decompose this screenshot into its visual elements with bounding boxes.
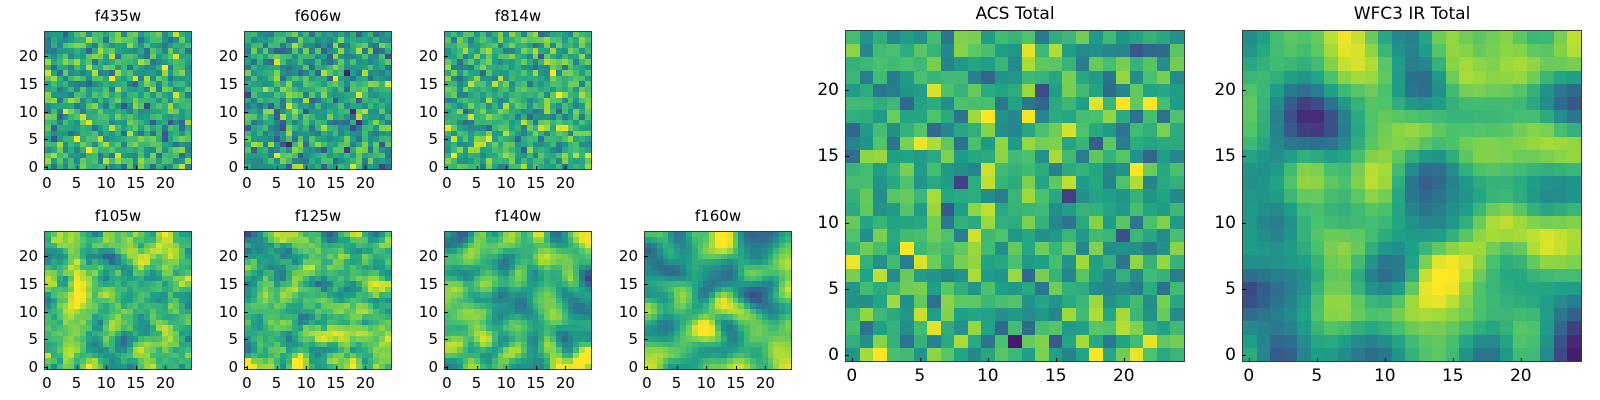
y-tick-mark: [444, 139, 448, 140]
heatmap-cell: [1143, 123, 1157, 136]
heatmap-cell: [954, 71, 968, 84]
heatmap-cell: [1143, 57, 1157, 70]
heatmap-cell: [995, 203, 1009, 216]
x-tick-mark: [506, 366, 507, 370]
heatmap-cell: [900, 110, 914, 123]
heatmap-cell: [981, 150, 995, 163]
x-tick-label: 20: [356, 374, 375, 392]
heatmap-cell: [860, 57, 874, 70]
heatmap-cell: [954, 229, 968, 242]
x-tick-label: 10: [497, 374, 516, 392]
heatmap-cell: [1008, 216, 1022, 229]
heatmap-cell: [1008, 57, 1022, 70]
heatmap-cell: [1116, 176, 1130, 189]
panel-title-f125w: f125w: [244, 207, 392, 225]
heatmap-cell: [1103, 255, 1117, 268]
heatmap-cell: [941, 150, 955, 163]
heatmap-cell: [1008, 97, 1022, 110]
x-tick-label: 5: [472, 174, 482, 192]
heatmap-cell: [1076, 216, 1090, 229]
heatmap-cell: [968, 110, 982, 123]
heatmap-cell: [887, 203, 901, 216]
panel-title-f160w: f160w: [644, 207, 792, 225]
y-tick-mark: [644, 312, 648, 313]
heatmap-cell: [887, 269, 901, 282]
y-tick-label: 20: [0, 247, 38, 265]
heatmap-cell: [1143, 110, 1157, 123]
heatmap-cell: [1062, 31, 1076, 44]
heatmap-cell: [1049, 163, 1063, 176]
x-tick-mark: [565, 166, 566, 170]
heatmap-cell: [1049, 176, 1063, 189]
heatmap-cell: [1116, 123, 1130, 136]
heatmap-cell: [1130, 203, 1144, 216]
heatmap-cell: [968, 137, 982, 150]
y-tick-mark: [444, 56, 448, 57]
heatmap-cell: [1170, 137, 1184, 150]
heatmap-cell: [1130, 110, 1144, 123]
heatmap-cell: [1130, 137, 1144, 150]
heatmap-cell: [914, 269, 928, 282]
y-tick-mark: [44, 367, 48, 368]
heatmap-cell: [1143, 216, 1157, 229]
y-tick-label: 15: [598, 275, 638, 293]
heatmap-cell: [860, 97, 874, 110]
x-tick-label: 5: [72, 374, 82, 392]
heatmap-cell: [954, 242, 968, 255]
x-tick-mark: [306, 366, 307, 370]
heatmap-cell: [846, 203, 860, 216]
heatmap-cell: [954, 97, 968, 110]
heatmap-cell: [585, 164, 591, 169]
heatmap-cell: [914, 44, 928, 57]
heatmap-cell: [1089, 97, 1103, 110]
heatmap-cell: [995, 255, 1009, 268]
heatmap-cell: [954, 110, 968, 123]
heatmap-cell: [1089, 137, 1103, 150]
heatmap-cell: [1049, 150, 1063, 163]
y-tick-mark: [244, 167, 248, 168]
heatmap-cell: [1130, 176, 1144, 189]
heatmap-cell: [873, 176, 887, 189]
y-tick-label: 10: [598, 303, 638, 321]
heatmap-cell: [887, 150, 901, 163]
heatmap-cell: [1103, 229, 1117, 242]
x-tick-label: 0: [242, 374, 252, 392]
heatmap-cell: [914, 150, 928, 163]
heatmap-cell: [995, 31, 1009, 44]
x-tick-mark: [336, 366, 337, 370]
y-tick-label: 20: [0, 47, 38, 65]
heatmap-cell: [1116, 163, 1130, 176]
heatmap-cell: [1130, 84, 1144, 97]
heatmap-cell: [1062, 57, 1076, 70]
heatmap-cell: [1157, 57, 1171, 70]
heatmap-cell: [914, 163, 928, 176]
heatmap-cell: [1103, 110, 1117, 123]
x-tick-label: 15: [326, 374, 345, 392]
heatmap-cell: [1035, 97, 1049, 110]
x-tick-mark: [306, 166, 307, 170]
heatmap-cell: [995, 71, 1009, 84]
heatmap-cell: [1049, 255, 1063, 268]
heatmap-cell: [1143, 255, 1157, 268]
x-tick-label: 20: [356, 174, 375, 192]
heatmap-cell: [981, 110, 995, 123]
heatmap-cell: [1076, 71, 1090, 84]
heatmap-cell: [1143, 71, 1157, 84]
y-tick-mark: [44, 167, 48, 168]
heatmap-cell: [927, 189, 941, 202]
heatmap-cell: [927, 71, 941, 84]
heatmap-cell: [1008, 150, 1022, 163]
y-tick-label: 0: [598, 358, 638, 376]
heatmap-cell: [1022, 189, 1036, 202]
heatmap-cell: [900, 216, 914, 229]
heatmap-cell: [1008, 229, 1022, 242]
heatmap-cell: [927, 269, 941, 282]
heatmap-cell: [1035, 189, 1049, 202]
x-tick-mark: [77, 366, 78, 370]
heatmap-cell: [1089, 255, 1103, 268]
heatmap-cell: [1076, 31, 1090, 44]
heatmap-cell: [1103, 216, 1117, 229]
y-tick-mark: [444, 167, 448, 168]
heatmap-cell: [1157, 97, 1171, 110]
heatmap-cell: [1157, 84, 1171, 97]
heatmap-cell: [1157, 31, 1171, 44]
heatmap-cell: [873, 150, 887, 163]
heatmap-cell: [1076, 44, 1090, 57]
heatmap-cell: [900, 269, 914, 282]
heatmap-cell: [887, 137, 901, 150]
heatmap-cell: [954, 163, 968, 176]
heatmap-cell: [1062, 176, 1076, 189]
heatmap-cell: [1103, 203, 1117, 216]
heatmap-cell: [1062, 84, 1076, 97]
heatmap-cell: [995, 110, 1009, 123]
heatmap-cell: [954, 150, 968, 163]
heatmap-f105w: [44, 231, 192, 370]
y-tick-mark: [644, 256, 648, 257]
heatmap-cell: [995, 84, 1009, 97]
heatmap-cell: [1062, 97, 1076, 110]
heatmap-cell: [968, 123, 982, 136]
heatmap-cell: [914, 203, 928, 216]
heatmap-f160w: [644, 231, 792, 370]
heatmap-cell: [981, 137, 995, 150]
heatmap-cell: [1022, 44, 1036, 57]
heatmap-cell: [1170, 242, 1184, 255]
heatmap-cell: [1022, 216, 1036, 229]
heatmap-cell: [1170, 97, 1184, 110]
heatmap-cell: [1170, 255, 1184, 268]
heatmap-cell: [1130, 163, 1144, 176]
y-tick-mark: [644, 284, 648, 285]
heatmap-cell: [873, 137, 887, 150]
heatmap-cell: [1103, 163, 1117, 176]
heatmap-cell: [981, 229, 995, 242]
heatmap-cell: [914, 123, 928, 136]
heatmap-cell: [927, 163, 941, 176]
heatmap-cell: [1022, 203, 1036, 216]
heatmap-cell: [846, 269, 860, 282]
heatmap-cell: [900, 84, 914, 97]
heatmap-cell: [846, 242, 860, 255]
heatmap-cell: [981, 84, 995, 97]
heatmap-cell: [1008, 203, 1022, 216]
heatmap-f435w: [44, 31, 192, 170]
heatmap-cell: [1076, 229, 1090, 242]
heatmap-cell: [968, 176, 982, 189]
heatmap-cell: [1022, 163, 1036, 176]
heatmap-cell: [981, 71, 995, 84]
heatmap-cell: [860, 31, 874, 44]
heatmap-cell: [1062, 150, 1076, 163]
y-tick-label: 20: [398, 247, 438, 265]
heatmap-cell: [968, 97, 982, 110]
heatmap-cell: [927, 176, 941, 189]
heatmap-cell: [968, 163, 982, 176]
heatmap-cell: [873, 255, 887, 268]
heatmap-cell: [887, 57, 901, 70]
heatmap-cell: [981, 242, 995, 255]
heatmap-cell: [1089, 110, 1103, 123]
heatmap-cell: [927, 84, 941, 97]
y-tick-mark: [44, 339, 48, 340]
heatmap-cell: [954, 203, 968, 216]
heatmap-cell: [1143, 150, 1157, 163]
heatmap-cell: [1089, 57, 1103, 70]
heatmap-cell: [981, 189, 995, 202]
heatmap-cell: [1116, 57, 1130, 70]
heatmap-cell: [941, 229, 955, 242]
heatmap-cell: [1170, 229, 1184, 242]
heatmap-cell: [1143, 176, 1157, 189]
y-tick-label: 15: [398, 75, 438, 93]
panel-title-f105w: f105w: [44, 207, 192, 225]
x-tick-mark: [477, 366, 478, 370]
heatmap-cell: [1008, 123, 1022, 136]
heatmap-cell: [1035, 229, 1049, 242]
heatmap-cell: [1130, 150, 1144, 163]
y-tick-mark: [444, 339, 448, 340]
heatmap-cell: [873, 31, 887, 44]
x-tick-label: 10: [97, 174, 116, 192]
heatmap-cell: [1062, 163, 1076, 176]
x-tick-label: 0: [242, 174, 252, 192]
heatmap-cell: [1089, 44, 1103, 57]
heatmap-cell: [1035, 123, 1049, 136]
heatmap-cell: [1143, 242, 1157, 255]
heatmap-cell: [1143, 31, 1157, 44]
heatmap-cell: [1008, 176, 1022, 189]
y-tick-label: 20: [598, 247, 638, 265]
x-tick-label: 15: [526, 374, 545, 392]
heatmap-cell: [846, 123, 860, 136]
heatmap-cell: [981, 203, 995, 216]
heatmap-cell: [887, 44, 901, 57]
heatmap-f140w: [444, 231, 592, 370]
x-tick-mark: [677, 366, 678, 370]
heatmap-cell: [968, 71, 982, 84]
heatmap-cell: [1116, 189, 1130, 202]
heatmap-cell: [1062, 203, 1076, 216]
heatmap-cell: [887, 216, 901, 229]
x-tick-label: 10: [97, 374, 116, 392]
y-tick-label: 0: [198, 158, 238, 176]
y-tick-mark: [244, 56, 248, 57]
heatmap-cell: [995, 176, 1009, 189]
heatmap-cell: [1049, 97, 1063, 110]
heatmap-cell: [1157, 203, 1171, 216]
panel-title-f606w: f606w: [244, 7, 392, 25]
heatmap-cell: [954, 57, 968, 70]
heatmap-cell: [1170, 71, 1184, 84]
heatmap-cell: [1143, 229, 1157, 242]
heatmap-cell: [1089, 203, 1103, 216]
heatmap-cell: [1170, 203, 1184, 216]
y-tick-label: 0: [198, 358, 238, 376]
heatmap-cell: [914, 110, 928, 123]
x-tick-label: 15: [326, 174, 345, 192]
heatmap-cell: [860, 44, 874, 57]
heatmap-cell: [927, 123, 941, 136]
x-tick-label: 0: [642, 374, 652, 392]
y-tick-mark: [644, 367, 648, 368]
heatmap-cell: [846, 176, 860, 189]
heatmap-cell: [1157, 176, 1171, 189]
heatmap-cell: [860, 255, 874, 268]
heatmap-cell: [1076, 255, 1090, 268]
heatmap-cell: [1035, 110, 1049, 123]
heatmap-cell: [954, 123, 968, 136]
heatmap-cell: [941, 31, 955, 44]
heatmap-cell: [1089, 123, 1103, 136]
heatmap-cell: [1008, 84, 1022, 97]
heatmap-cell: [1157, 44, 1171, 57]
heatmap-cell: [981, 163, 995, 176]
heatmap-cell: [846, 44, 860, 57]
heatmap-cell: [995, 242, 1009, 255]
y-tick-label: 15: [198, 275, 238, 293]
x-tick-label: 5: [272, 374, 282, 392]
heatmap-cell: [1170, 31, 1184, 44]
heatmap-cell: [1049, 203, 1063, 216]
heatmap-cell: [873, 242, 887, 255]
heatmap-cell: [1049, 84, 1063, 97]
y-tick-mark: [244, 256, 248, 257]
x-tick-label: 20: [156, 174, 175, 192]
heatmap-cell: [1170, 216, 1184, 229]
heatmap-cell: [1089, 176, 1103, 189]
heatmap-cell: [1170, 123, 1184, 136]
heatmap-cell: [1130, 123, 1144, 136]
heatmap-cell: [941, 97, 955, 110]
y-tick-label: 5: [0, 130, 38, 148]
heatmap-cell: [954, 189, 968, 202]
heatmap-cell: [873, 84, 887, 97]
y-tick-mark: [244, 367, 248, 368]
heatmap-cell: [1062, 216, 1076, 229]
x-tick-label: 15: [726, 374, 745, 392]
y-tick-label: 15: [198, 75, 238, 93]
heatmap-cell: [927, 229, 941, 242]
heatmap-cell: [1022, 242, 1036, 255]
heatmap-cell: [1130, 255, 1144, 268]
x-tick-mark: [136, 366, 137, 370]
heatmap-cell: [981, 44, 995, 57]
y-tick-label: 10: [198, 303, 238, 321]
heatmap-cell: [995, 137, 1009, 150]
heatmap-cell: [1035, 176, 1049, 189]
heatmap-cell: [927, 57, 941, 70]
x-tick-label: 15: [526, 174, 545, 192]
heatmap-cell: [860, 110, 874, 123]
heatmap-cell: [1103, 189, 1117, 202]
y-tick-label: 5: [398, 130, 438, 148]
x-tick-label: 10: [697, 374, 716, 392]
heatmap-cell: [1103, 84, 1117, 97]
heatmap-cell: [185, 364, 191, 369]
heatmap-cell: [1116, 71, 1130, 84]
y-tick-mark: [244, 339, 248, 340]
heatmap-cell: [941, 176, 955, 189]
heatmap-cell: [914, 71, 928, 84]
heatmap-cell: [873, 229, 887, 242]
heatmap-cell: [941, 242, 955, 255]
heatmap-cell: [1170, 44, 1184, 57]
heatmap-cell: [1035, 84, 1049, 97]
heatmap-cell: [1103, 97, 1117, 110]
y-tick-mark: [444, 256, 448, 257]
heatmap-cell: [1049, 242, 1063, 255]
heatmap-cell: [1130, 229, 1144, 242]
heatmap-cell: [1116, 84, 1130, 97]
x-tick-label: 0: [442, 174, 452, 192]
heatmap-cell: [995, 44, 1009, 57]
x-tick-mark: [277, 366, 278, 370]
heatmap-cell: [900, 44, 914, 57]
heatmap-cell: [860, 84, 874, 97]
heatmap-cell: [1022, 150, 1036, 163]
heatmap-cell: [995, 150, 1009, 163]
heatmap-cell: [1089, 163, 1103, 176]
y-tick-label: 10: [0, 303, 38, 321]
heatmap-cell: [900, 229, 914, 242]
y-tick-mark: [644, 339, 648, 340]
heatmap-cell: [1089, 150, 1103, 163]
heatmap-cell: [1022, 137, 1036, 150]
heatmap-cell: [887, 242, 901, 255]
heatmap-cell: [873, 269, 887, 282]
heatmap-cell: [968, 242, 982, 255]
heatmap-cell: [1076, 203, 1090, 216]
heatmap-cell: [900, 163, 914, 176]
x-tick-label: 5: [272, 174, 282, 192]
y-tick-label: 15: [0, 75, 38, 93]
heatmap-cell: [1116, 97, 1130, 110]
heatmap-cell: [785, 364, 791, 369]
heatmap-cell: [1170, 84, 1184, 97]
heatmap-cell: [981, 31, 995, 44]
heatmap-cell: [927, 242, 941, 255]
heatmap-cell: [1049, 44, 1063, 57]
x-tick-mark: [765, 366, 766, 370]
heatmap-cell: [900, 97, 914, 110]
y-tick-label: 20: [198, 247, 238, 265]
heatmap-cell: [1143, 163, 1157, 176]
